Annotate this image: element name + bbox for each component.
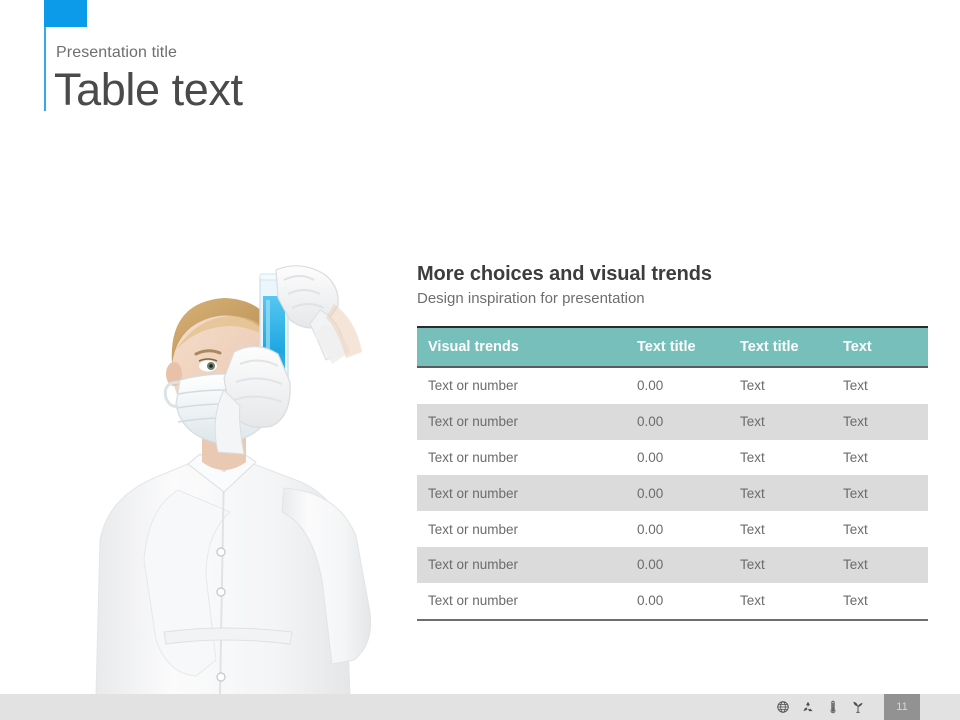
column-header-text-title-1[interactable]: Text title — [629, 327, 732, 367]
cell-text-1: Text — [732, 547, 835, 583]
cell-text-2: Text — [835, 475, 928, 511]
cell-label: Text or number — [417, 583, 629, 620]
cell-label: Text or number — [417, 404, 629, 440]
cell-label: Text or number — [417, 475, 629, 511]
section-heading: More choices and visual trends — [417, 261, 712, 287]
cell-number: 0.00 — [629, 404, 732, 440]
data-table: Visual trends Text title Text title Text… — [417, 326, 928, 621]
table-row[interactable]: Text or number 0.00 Text Text — [417, 404, 928, 440]
cell-label: Text or number — [417, 511, 629, 547]
page-number-badge: 11 — [884, 694, 920, 720]
presentation-title-eyebrow: Presentation title — [56, 43, 177, 63]
cell-text-1: Text — [732, 583, 835, 620]
accent-flag — [44, 0, 87, 27]
footer-icon-group — [776, 694, 865, 720]
cell-text-1: Text — [732, 475, 835, 511]
page-title: Table text — [54, 62, 243, 118]
cell-label: Text or number — [417, 547, 629, 583]
recycle-icon[interactable] — [801, 699, 815, 715]
table-row[interactable]: Text or number 0.00 Text Text — [417, 583, 928, 620]
cell-number: 0.00 — [629, 511, 732, 547]
cell-text-1: Text — [732, 404, 835, 440]
column-header-visual-trends[interactable]: Visual trends — [417, 327, 629, 367]
scientist-photo — [38, 240, 410, 695]
accent-rule — [44, 27, 46, 111]
cell-number: 0.00 — [629, 367, 732, 404]
table-header: Visual trends Text title Text title Text — [417, 327, 928, 367]
globe-icon[interactable] — [776, 699, 790, 715]
cell-text-2: Text — [835, 547, 928, 583]
table-row[interactable]: Text or number 0.00 Text Text — [417, 547, 928, 583]
column-header-text[interactable]: Text — [835, 327, 928, 367]
cell-number: 0.00 — [629, 583, 732, 620]
cell-label: Text or number — [417, 440, 629, 476]
cell-text-1: Text — [732, 367, 835, 404]
cell-text-2: Text — [835, 583, 928, 620]
cell-text-2: Text — [835, 404, 928, 440]
table-body: Text or number 0.00 Text Text Text or nu… — [417, 367, 928, 620]
cell-text-1: Text — [732, 440, 835, 476]
table-row[interactable]: Text or number 0.00 Text Text — [417, 367, 928, 404]
section-subheading: Design inspiration for presentation — [417, 289, 645, 309]
cell-label: Text or number — [417, 367, 629, 404]
cell-text-1: Text — [732, 511, 835, 547]
cell-text-2: Text — [835, 367, 928, 404]
table-row[interactable]: Text or number 0.00 Text Text — [417, 440, 928, 476]
slide-canvas: Presentation title Table text — [0, 0, 960, 720]
table-row[interactable]: Text or number 0.00 Text Text — [417, 511, 928, 547]
thermometer-icon[interactable] — [826, 699, 840, 715]
cell-number: 0.00 — [629, 475, 732, 511]
cell-text-2: Text — [835, 511, 928, 547]
cell-text-2: Text — [835, 440, 928, 476]
column-header-text-title-2[interactable]: Text title — [732, 327, 835, 367]
table-row[interactable]: Text or number 0.00 Text Text — [417, 475, 928, 511]
scientist-illustration — [38, 240, 410, 695]
sprout-icon[interactable] — [851, 699, 865, 715]
table-header-row: Visual trends Text title Text title Text — [417, 327, 928, 367]
cell-number: 0.00 — [629, 440, 732, 476]
cell-number: 0.00 — [629, 547, 732, 583]
